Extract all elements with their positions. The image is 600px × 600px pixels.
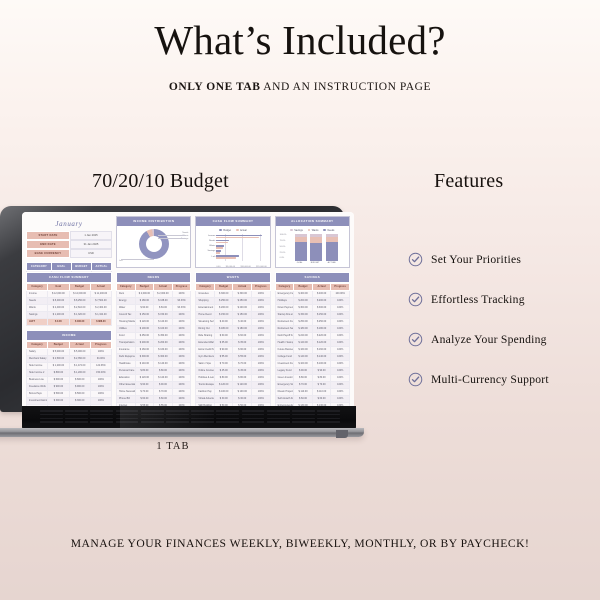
chart-x-axis: GOAL BUDGET ACTUAL [279,261,346,264]
cell: Education [117,374,136,381]
legend-item: Budget [219,229,231,232]
table-row: Home Decor$ 150.00$ 150.00100% [196,311,270,318]
cell: Needs [27,297,48,304]
table-row: Rent$ 2,000.00$ 2,000.00100% [117,290,191,297]
cell: $ 180.00 [69,318,90,325]
setting-row[interactable]: BASE CURRENCY USD [26,249,112,258]
table-column-needs: NEEDS CategoryBudget ActualProgress Rent… [116,272,191,406]
cell: Self-Growth Fund [275,395,294,402]
cell: 100% [172,290,191,297]
legend-label: Actual [240,229,247,232]
col-header: CATEGORY [27,263,52,271]
col-header: Actual [233,283,252,290]
cell: $ 1,200.00 [69,369,90,376]
cell: $ 250.00 [312,318,331,325]
feature-item: Multi-Currency Support [408,372,598,387]
cell: $ 2,350.00 [69,355,90,362]
table-row: Retirement Savings$ 180.00$ 180.00100% [275,325,349,332]
cell: Health / Savings Account [275,339,294,346]
donut-chart [139,229,169,259]
cell: 100% [90,376,111,383]
cell: Streaming Services [196,318,215,325]
cell: Fashion Pay [196,388,215,395]
cell: Dream Project [275,388,294,395]
cell: $ 150.00 [214,311,233,318]
cell: 100% [252,374,271,381]
col-header: Budget [48,341,69,348]
cell: $ 160.00 [312,346,331,353]
feature-label: Effortless Tracking [431,294,525,306]
cell: $ 70.00 [294,381,313,388]
table-row: Hobbies & Leisure$ 80.00$ 80.00100% [196,374,270,381]
cell: Phone Bill [117,395,136,402]
legend-item: Needs [323,229,334,232]
table-row: Personal Care$ 80.00$ 80.00100% [117,367,191,374]
cell: $ 100.00 [154,325,173,332]
col-header: Actual [312,283,331,290]
table-row: Self-Growth Fund$ 60.00$ 60.00100% [275,395,349,402]
savings-table: CategoryBudget ActualProgress Emergency … [275,283,350,406]
cell: $ 8,400.00 [48,297,69,304]
cell: $ 300.00 [312,304,331,311]
cell: $ 400.00 [312,290,331,297]
cell: Debt Payoff Fund [275,332,294,339]
table-row: Salary$ 5,000.00$ 5,000.00100% [27,348,112,355]
cell: $ 2,400.00 [48,304,69,311]
cell: $ 180.00 [135,297,154,304]
cell: 100% [172,325,191,332]
table-title: WANTS [195,272,270,283]
cell: 100% [252,318,271,325]
col-header: Category [275,283,294,290]
cell: College Fund [275,353,294,360]
cell: 100% [90,390,111,397]
cell: Holidays [275,297,294,304]
col-header: Category [196,283,215,290]
table-row: Salon / Spa$ 70.00$ 70.00100% [196,360,270,367]
cell: 93.33% [172,297,191,304]
feature-label: Analyze Your Spending [431,334,547,346]
chart-title: INCOME DISTRIBUTION [117,217,190,226]
cell: $ 1,344.00 [90,311,111,318]
cell: $ 2,464.00 [90,304,111,311]
table-row: Phone Bill$ 60.00$ 60.00100% [117,395,191,402]
cell: 100% [252,339,271,346]
col-header: BUDGET [71,263,91,271]
legend-label: Budget [223,229,231,232]
cell: $ 90.00 [135,304,154,311]
stacked-bar [295,234,307,261]
table-row: Investment Earnings$ 300.00$ 300.00100% [27,397,112,404]
page-subtitle: ONLY ONE TAB AND AN INSTRUCTION PAGE [0,81,600,93]
cell: Investment Earnings [27,397,48,404]
table-header-row: CategoryBudget ActualProgress [275,283,349,290]
cell: $ 84.00 [154,304,173,311]
setting-value[interactable]: 31 Jan 2025 [70,240,112,249]
cell: $ 70.00 [312,381,331,388]
table-row: Business Line$ 600.00$ 600.00100% [27,376,112,383]
feature-item: Set Your Priorities [408,252,598,267]
check-circle-icon [408,372,423,387]
cell: $ 40.00 [233,318,252,325]
income-table: CategoryBudget ActualProgress Salary$ 5,… [26,341,112,406]
chart-body: Needs Wants Savings Left [117,226,190,264]
cell: $ 120.00 [135,374,154,381]
cell: 100% [331,339,350,346]
table-row: Other Essentials$ 90.00$ 90.00100% [117,381,191,388]
cell: $ 60.00 [294,395,313,402]
cell: Energy [117,297,136,304]
cell: Housing Maintenance [117,318,136,325]
cell: 100% [172,332,191,339]
cell: Home Necessity [117,388,136,395]
y-tick: 50.0% [280,246,286,248]
cell: 100% [172,311,191,318]
legend-label: Savings [294,229,303,232]
cell: 100% [331,353,350,360]
cell: $ 60.00 [135,395,154,402]
cell: LEFT [27,318,48,325]
cell: $ 140.00 [312,353,331,360]
cell: Food [117,332,136,339]
cell: $ 450.00 [135,332,154,339]
cell: $ 160.00 [135,346,154,353]
col-header: Progress [331,283,350,290]
table-row: Needs$ 8,400.00$ 8,250.00$ 7,504.00 [27,297,112,304]
cell: $ 60.00 [312,395,331,402]
setting-row[interactable]: END DATE 31 Jan 2025 [26,240,112,249]
cell: Virtual Adventures [196,395,215,402]
cell: $ 80.00 [312,374,331,381]
cell: $ 120.00 [312,339,331,346]
cell: 93.33% [172,304,191,311]
col-header: Category [117,283,136,290]
cell: $ 90.00 [154,381,173,388]
cell: 94.00% [90,355,111,362]
table-row: Freelance Work$ 900.00$ 900.00100% [27,383,112,390]
table-total-row: LEFT$ 0.00$ 180.00$ 888.00 [27,318,112,325]
table-column-savings: SAVINGS CategoryBudget ActualProgress Em… [275,272,350,406]
col-header: Category [27,341,48,348]
stacked-bar [326,234,338,261]
cell: 100% [90,397,111,404]
cell: $ 220.00 [312,332,331,339]
table-header-row: CategoryGoal BudgetActual [27,283,112,290]
cell: 100% [172,388,191,395]
table-row: Debt Repayments$ 300.00$ 300.00100% [117,353,191,360]
table-row: Merchant Salary$ 2,500.00$ 2,350.0094.00… [27,355,112,362]
cell: $ 300.00 [294,304,313,311]
bar-label: Wants [199,245,215,247]
feature-item: Effortless Tracking [408,292,598,307]
laptop-lid: January START DATE 1 Jan 2025 END DATE 3… [0,206,344,412]
dashboard-top-row: January START DATE 1 Jan 2025 END DATE 3… [26,216,350,268]
table-row: Gym Membership$ 55.00$ 55.00100% [196,353,270,360]
needs-table: CategoryBudget ActualProgress Rent$ 2,00… [116,283,191,406]
cell: 100% [331,374,350,381]
setting-key: END DATE [26,240,70,249]
cell: $ 100.00 [135,325,154,332]
cell: Salary [27,348,48,355]
cell: $ 60.00 [214,332,233,339]
table-row: Tourist Escape$ 120.00$ 120.00100% [196,381,270,388]
table-row: Energy$ 180.00$ 168.0093.33% [117,297,191,304]
table-title: CASH FLOW SUMMARY [26,272,112,283]
cell: $ 400.00 [294,290,313,297]
cell: 100% [331,381,350,388]
cell: $ 180.00 [312,325,331,332]
horizontal-bars: Income Needs Wants Savings Left [199,234,266,266]
y-tick: 75.0% [280,240,286,242]
cell: Hobbies & Leisure [196,374,215,381]
cell: Shopping [196,297,215,304]
table-row: Emergency Fund$ 400.00$ 400.00100.00% [275,290,349,297]
cell: $ 90.00 [294,367,313,374]
cell: 100% [252,388,271,395]
table-row: Online Courses$ 45.00$ 45.00100% [196,367,270,374]
table-row: Dining Out$ 180.00$ 180.00100% [196,325,270,332]
subtitle-emphasis: ONLY ONE TAB [169,81,261,93]
table-row: Extended Warranties$ 35.00$ 35.00100% [196,339,270,346]
table-row: Bonus Pays$ 500.00$ 500.00100% [27,390,112,397]
cell: $ 450.00 [154,332,173,339]
table-row: Wants$ 2,400.00$ 2,610.00$ 2,464.00 [27,304,112,311]
cell: 100% [252,395,271,402]
setting-row[interactable]: START DATE 1 Jan 2025 [26,231,112,240]
wants-table: CategoryBudget ActualProgress Groceries$… [195,283,270,406]
features-list: Set Your Priorities Effortless Tracking … [408,252,598,412]
table-row: Debt Payoff Fund$ 220.00$ 220.00100% [275,332,349,339]
cell: 100% [331,325,350,332]
cell: $ 200.00 [233,304,252,311]
cell: $ 200.00 [154,339,173,346]
cell: Groceries [196,290,215,297]
cell: $ 100.00 [312,360,331,367]
x-tick: GOAL [297,262,303,264]
chart-legend: Savings Wants Needs [279,229,346,232]
cell: 100% [172,367,191,374]
table-row: Utilities$ 100.00$ 100.00100% [117,325,191,332]
cell: $ 160.00 [154,346,173,353]
slide-canvas: What’s Included? ONLY ONE TAB AND AN INS… [0,0,600,600]
dashboard-tables-row: CASH FLOW SUMMARY CategoryGoal BudgetAct… [26,272,350,406]
col-header: Category [27,283,48,290]
cell: 100% [252,353,271,360]
cell: $ 100.00 [233,388,252,395]
cell: $ 500.00 [69,390,90,397]
cell: Legacy Fund [275,367,294,374]
cell: Extended Warranties [196,339,215,346]
table-row: Savings$ 1,200.00$ 1,320.00$ 1,344.00 [27,311,112,318]
cell: $ 150.00 [154,311,173,318]
cell: $ 80.00 [214,374,233,381]
cell: Emergency Stash [275,381,294,388]
donut-label: Savings [181,238,188,240]
cell: $ 35.00 [233,339,252,346]
cell: 100% [172,360,191,367]
settings-rows: START DATE 1 Jan 2025 END DATE 31 Jan 20… [26,231,112,258]
donut-left-label: Left [119,260,122,262]
table-row: Council Tax$ 150.00$ 150.00100% [117,311,191,318]
section-heading-features: Features [434,170,503,193]
cell: $ 110.00 [312,388,331,395]
cell: $ 100.00 [294,360,313,367]
cell: $ 30.00 [214,395,233,402]
cell: $ 120.00 [233,381,252,388]
cell: $ 300.00 [48,397,69,404]
cell: 100% [331,297,350,304]
feature-label: Set Your Priorities [431,254,521,266]
x-tick: BUDGET [311,262,320,264]
cell: $ 150.00 [135,311,154,318]
cell: $ 80.00 [135,367,154,374]
donut-label: Needs [182,232,188,234]
chart-body: Budget Actual Income Needs Wants Savings [196,226,269,264]
cell: $ 7,504.00 [90,297,111,304]
col-header: Actual [90,283,111,290]
cell: 100% [252,325,271,332]
cell: Rent [117,290,136,297]
table-row: College Fund$ 140.00$ 140.00100% [275,353,349,360]
cell: Gym Membership [196,353,215,360]
donut-label: Wants [183,235,189,237]
table-row: Green Investment$ 80.00$ 80.00100% [275,374,349,381]
col-header: Budget [214,283,233,290]
cell: $ 90.00 [312,367,331,374]
cell: $ 500.00 [48,390,69,397]
cell: $ 160.00 [294,346,313,353]
table-row: Insurance$ 160.00$ 160.00100% [117,346,191,353]
cell: Green Investment [275,374,294,381]
table-header-row: CATEGORY GOAL BUDGET ACTUAL [27,263,112,271]
cell: Side Income 2 [27,369,48,376]
table-row: Education$ 120.00$ 120.00100% [117,374,191,381]
cell: Home Decor [196,311,215,318]
cell: $ 2,000.00 [135,290,154,297]
table-row: Future Business Investments$ 160.00$ 160… [275,346,349,353]
cell: 100% [331,318,350,325]
legend-item: Savings [290,229,303,232]
cell: $ 150.00 [312,311,331,318]
cell: Entertainment [196,304,215,311]
cell: Water [117,304,136,311]
cell: $ 300.00 [69,397,90,404]
setting-key: START DATE [26,231,70,240]
cell: $ 90.00 [135,381,154,388]
cell: 100% [252,381,271,388]
table-row: Groceries$ 300.00$ 300.00100% [196,290,270,297]
table-row: Housing Maintenance$ 120.00$ 120.00100% [117,318,191,325]
setting-value[interactable]: 1 Jan 2025 [70,231,112,240]
cell: 100% [172,346,191,353]
cell: $ 60.00 [154,395,173,402]
month-title: January [26,216,112,231]
cell: $ 90.00 [233,346,252,353]
cell: $ 100.00 [214,388,233,395]
cell: $ 120.00 [214,381,233,388]
cell: Wants [27,304,48,311]
col-header: GOAL [51,263,71,271]
chart-cash-flow: CASH FLOW SUMMARY Budget Actual Income N… [195,216,270,268]
cell: $ 45.00 [233,367,252,374]
cell: $ 55.00 [233,353,252,360]
cell: Healthcare [117,360,136,367]
table-row: Healthcare$ 140.00$ 140.00100% [117,360,191,367]
cell: $ 12,000.00 [69,290,90,297]
cell: Income [27,290,48,297]
table-row: Dream Project$ 110.00$ 110.00100% [275,388,349,395]
table-row: Down Payment / Home$ 300.00$ 300.00100% [275,304,349,311]
cell: 100% [331,388,350,395]
cell: $ 150.00 [294,311,313,318]
chart-title: ALLOCATION SUMMARY [276,217,349,226]
y-tick: 100.0% [280,234,287,236]
bar-label: Savings [199,250,215,252]
cell: Merchant Salary [27,355,48,362]
check-circle-icon [408,252,423,267]
cell: $ 90.00 [214,346,233,353]
cell: $ 2,610.00 [69,304,90,311]
setting-value[interactable]: USD [70,249,112,258]
cell: $ 200.00 [135,339,154,346]
cell: Emergency Fund [275,290,294,297]
bar-label: Income [199,235,215,237]
cell: Tourist Escape [196,381,215,388]
cell: $ 140.00 [294,353,313,360]
month-settings-panel: January START DATE 1 Jan 2025 END DATE 3… [26,216,112,268]
table-header-row: CategoryBudget ActualProgress [27,341,112,348]
cell: 150.00% [90,369,111,376]
cash-flow-table: CategoryGoal BudgetActual Income$ 12,000… [26,283,112,326]
table-row: Retirement Fund / Pension$ 250.00$ 250.0… [275,318,349,325]
chart-legend: Budget Actual [199,229,266,232]
legend-label: Needs [327,229,334,232]
cell: $ 80.00 [233,374,252,381]
cell: 100% [172,318,191,325]
table-row: Virtual Adventures$ 30.00$ 30.00100% [196,395,270,402]
cell: $ 11,200.00 [90,290,111,297]
stacked-bar [310,234,322,261]
table-title: NEEDS [116,272,191,283]
x-tick: ACTUAL [328,262,336,264]
cell: $ 40.00 [214,318,233,325]
cell: 100% [252,311,271,318]
cell: $ 140.00 [154,360,173,367]
cell: $ 30.00 [233,395,252,402]
cell: $ 300.00 [154,353,173,360]
cell: $ 900.00 [48,383,69,390]
x-tick: $5,000.00 [226,266,235,268]
legend-label: Wants [312,229,319,232]
x-tick: $15,000.00 [256,266,266,268]
chart-x-axis: 0.00 $5,000.00 $10,000.00 $15,000.00 [199,266,266,268]
cell: $ 110.00 [294,388,313,395]
table-row: Side Income$ 1,200.00$ 1,472.00122.66% [27,362,112,369]
spreadsheet-app: January START DATE 1 Jan 2025 END DATE 3… [22,212,354,406]
cell: 100% [331,367,350,374]
cell: $ 150.00 [233,311,252,318]
laptop-screen: January START DATE 1 Jan 2025 END DATE 3… [22,212,354,406]
cell: 100% [331,332,350,339]
col-header: ACTUAL [91,263,111,271]
cell: 100% [90,348,111,355]
cell: Retirement Fund / Pension [275,318,294,325]
check-circle-icon [408,332,423,347]
cell: Debt Repayments [117,353,136,360]
cell: Online Courses [196,367,215,374]
table-row: Holidays$ 200.00$ 200.00100% [275,297,349,304]
cell: $ 5,000.00 [48,348,69,355]
